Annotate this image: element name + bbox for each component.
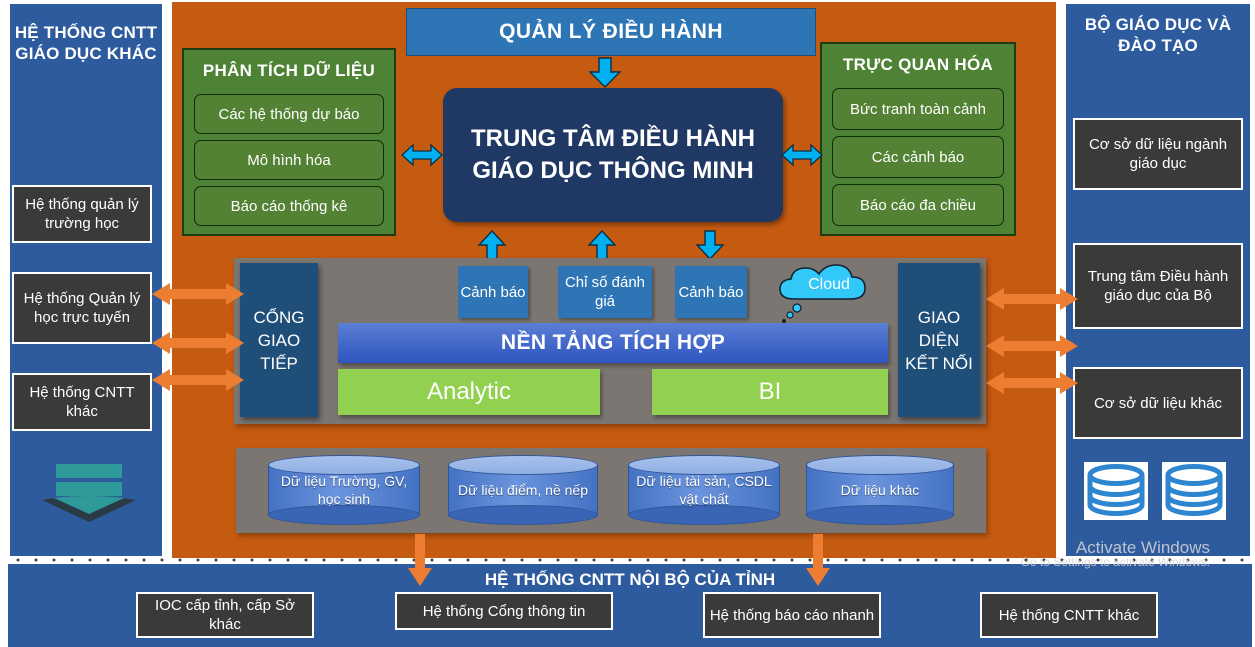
- tag-evaluation-index[interactable]: Chỉ số đánh giá: [558, 266, 652, 318]
- right-other-database[interactable]: Cơ sở dữ liệu khác: [1073, 367, 1243, 439]
- arrow-down-to-quick-report: [805, 534, 831, 588]
- arrow-gateway-to-right-sidebar-3: [986, 370, 1078, 396]
- data-cylinder-label: Dữ liệu khác: [806, 455, 954, 525]
- data-cylinder-label: Dữ liệu tài sản, CSDL vật chất: [628, 455, 780, 525]
- management-banner: QUẢN LÝ ĐIỀU HÀNH: [406, 8, 816, 56]
- data-analysis-title: PHÂN TÍCH DỮ LIỆU: [184, 50, 394, 92]
- watermark-line-2: Go to Settings to activate Windows.: [940, 555, 1210, 570]
- arrow-up-platform-to-hub-left: [477, 230, 507, 260]
- data-cylinder-label: Dữ liệu điểm, nề nếp: [448, 455, 598, 525]
- arrow-bidirectional-hub-visualization: [782, 142, 822, 168]
- cloud-icon: Cloud: [770, 263, 888, 325]
- arrow-gateway-to-right-sidebar-1: [986, 286, 1078, 312]
- left-column-title: HỆ THỐNG CNTT GIÁO DỤC KHÁC: [12, 8, 160, 78]
- bottom-item-quick-report[interactable]: Hệ thống báo cáo nhanh: [703, 592, 881, 638]
- bottom-banner-title-wrap: HỆ THỐNG CNTT NỘI BỘ CỦA TỈNH: [300, 566, 960, 594]
- bottom-item-other-it[interactable]: Hệ thống CNTT khác: [980, 592, 1158, 638]
- arrow-bidirectional-analysis-hub: [402, 142, 442, 168]
- visualization-item-multidim-report[interactable]: Báo cáo đa chiều: [832, 184, 1004, 226]
- analysis-item-modeling[interactable]: Mô hình hóa: [194, 140, 384, 180]
- diagram-canvas: HỆ THỐNG CNTT GIÁO DỤC KHÁC Hệ thống quả…: [0, 0, 1255, 647]
- right-education-sector-database[interactable]: Cơ sở dữ liệu ngành giáo dục: [1073, 118, 1243, 190]
- data-cylinder-school-teacher-student[interactable]: Dữ liệu Trường, GV, học sinh: [268, 455, 420, 525]
- arrow-down-hub-to-platform-right: [695, 230, 725, 260]
- data-analysis-panel: PHÂN TÍCH DỮ LIỆU Các hệ thống dự báo Mô…: [182, 48, 396, 236]
- windows-activation-watermark: Activate Windows Go to Settings to activ…: [940, 540, 1210, 570]
- visualization-item-alerts[interactable]: Các cảnh báo: [832, 136, 1004, 178]
- module-analytic[interactable]: Analytic: [338, 369, 600, 415]
- data-cylinder-assets-facilities[interactable]: Dữ liệu tài sản, CSDL vật chất: [628, 455, 780, 525]
- database-icon: [1084, 462, 1148, 520]
- arrow-up-platform-to-hub-center: [587, 230, 617, 260]
- tag-alert-right[interactable]: Cảnh báo: [675, 266, 747, 318]
- stacked-books-icon: [36, 462, 146, 524]
- arrow-left-sidebar-to-gateway-2: [152, 330, 244, 356]
- left-system-other-it[interactable]: Hệ thống CNTT khác: [12, 373, 152, 431]
- connection-interface-block: GIAO DIỆN KẾT NỐI: [898, 263, 980, 417]
- data-cylinder-scores-discipline[interactable]: Dữ liệu điểm, nề nếp: [448, 455, 598, 525]
- arrow-down-banner-to-hub: [588, 58, 622, 88]
- data-cylinder-other[interactable]: Dữ liệu khác: [806, 455, 954, 525]
- visualization-title: TRỰC QUAN HÓA: [822, 44, 1014, 86]
- data-cylinder-label: Dữ liệu Trường, GV, học sinh: [268, 455, 420, 525]
- arrow-down-to-portal-system: [407, 534, 433, 588]
- cloud-label: Cloud: [808, 276, 850, 293]
- right-column-title: BỘ GIÁO DỤC VÀ ĐÀO TẠO: [1068, 10, 1248, 60]
- smart-education-operations-hub: TRUNG TÂM ĐIỀU HÀNH GIÁO DỤC THÔNG MINH: [443, 88, 783, 222]
- analysis-item-forecast[interactable]: Các hệ thống dự báo: [194, 94, 384, 134]
- watermark-line-1: Activate Windows: [940, 540, 1210, 555]
- right-ministry-operations-center[interactable]: Trung tâm Điều hành giáo dục của Bộ: [1073, 243, 1243, 329]
- left-system-school-management[interactable]: Hệ thống quản lý trường học: [12, 185, 152, 243]
- tag-alert-left[interactable]: Cảnh báo: [458, 266, 528, 318]
- arrow-left-sidebar-to-gateway-1: [152, 281, 244, 307]
- analysis-item-statistics[interactable]: Báo cáo thống kê: [194, 186, 384, 226]
- bottom-item-portal-system[interactable]: Hệ thống Cổng thông tin: [395, 592, 613, 630]
- bottom-banner-title: HỆ THỐNG CNTT NỘI BỘ CỦA TỈNH: [485, 570, 775, 590]
- left-system-online-learning[interactable]: Hệ thống Quản lý học trực tuyến: [12, 272, 152, 344]
- bottom-item-ioc-other[interactable]: IOC cấp tỉnh, cấp Sở khác: [136, 592, 314, 638]
- arrow-left-sidebar-to-gateway-3: [152, 367, 244, 393]
- module-bi[interactable]: BI: [652, 369, 888, 415]
- communication-gateway-block: CỔNG GIAO TIẾP: [240, 263, 318, 417]
- visualization-panel: TRỰC QUAN HÓA Bức tranh toàn cảnh Các cả…: [820, 42, 1016, 236]
- visualization-item-overview[interactable]: Bức tranh toàn cảnh: [832, 88, 1004, 130]
- integration-platform-bar: NỀN TẢNG TÍCH HỢP: [338, 323, 888, 363]
- database-icon: [1162, 462, 1226, 520]
- arrow-gateway-to-right-sidebar-2: [986, 333, 1078, 359]
